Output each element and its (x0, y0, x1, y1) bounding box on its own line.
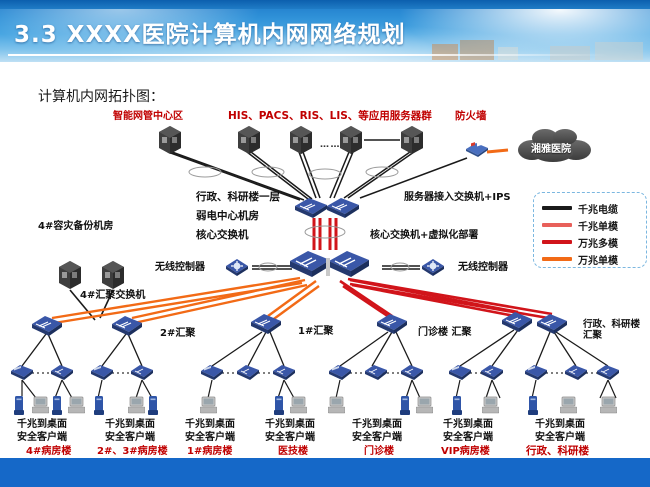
access-group-6-line1: 千兆到桌面 (535, 419, 585, 430)
desktop-pc-g4b[interactable] (416, 396, 433, 415)
access-switch-5b[interactable] (480, 364, 504, 381)
access-switch-4a[interactable] (328, 364, 352, 381)
server-app-4[interactable] (399, 124, 425, 154)
access-group-6-line2: 安全客户端 (535, 432, 585, 443)
desktop-pc-g1b[interactable] (68, 396, 85, 415)
access-group-1-building: 2#、3#病房楼 (97, 446, 168, 457)
dr-backup-server-1[interactable] (57, 259, 83, 289)
label-core-switch-virtualization: 核心交换机+虚拟化部署 (370, 230, 478, 241)
thin-client-g5[interactable] (452, 396, 462, 415)
thin-client-g4[interactable] (400, 396, 410, 415)
desktop-pc-g3[interactable] (200, 396, 217, 415)
access-group-1-line2: 安全客户端 (105, 432, 155, 443)
thin-client-g3[interactable] (274, 396, 284, 415)
aggregation-switch-outpatient[interactable] (375, 312, 409, 336)
label-aggregation-outpatient: 门诊楼 汇聚 (418, 327, 471, 338)
access-group-3-line1: 千兆到桌面 (265, 419, 315, 430)
desktop-pc-g6[interactable] (560, 396, 577, 415)
desktop-pc-g6b[interactable] (600, 396, 617, 415)
access-switch-4c[interactable] (400, 364, 424, 381)
access-group-4-building: 门诊楼 (364, 446, 394, 457)
label-wireless-controller-right: 无线控制器 (458, 262, 508, 273)
label-aggregation-2: 2#汇聚 (160, 328, 195, 339)
legend-swatch-tengig-single (542, 257, 572, 261)
access-group-3-line2: 安全客户端 (265, 432, 315, 443)
firewall-icon[interactable] (463, 141, 491, 157)
desktop-pc-g4[interactable] (328, 396, 345, 415)
wireless-controller-left-icon[interactable] (224, 256, 250, 276)
label-dr-backup-room: 4#容灾备份机房 (38, 221, 113, 232)
access-to-core-trunk (314, 218, 336, 250)
access-switch-3c[interactable] (272, 364, 296, 381)
legend-label-2: 万兆多模 (578, 235, 618, 250)
legend-swatch-tengig-multi (542, 240, 572, 244)
server-app-3[interactable] (338, 124, 364, 154)
server-app-2[interactable] (288, 124, 314, 154)
desktop-pc-g1[interactable] (32, 396, 49, 415)
legend-swatch-gigabit-cable (542, 206, 572, 210)
access-group-1-line1: 千兆到桌面 (105, 419, 155, 430)
access-group-2-line1: 千兆到桌面 (185, 419, 235, 430)
slide-canvas: 3.3 XXXX医院计算机内网网络规划 计算机内网拓扑图： (0, 0, 650, 487)
legend-box: 千兆电缆 千兆单模 万兆多模 万兆单模 (533, 192, 647, 268)
desktop-pc-g2[interactable] (128, 396, 145, 415)
access-to-endpoint-links (22, 380, 616, 398)
thin-client-g1[interactable] (14, 396, 24, 415)
dr-backup-server-2[interactable] (100, 259, 126, 289)
aggregation-switch-vip[interactable] (500, 310, 534, 334)
thin-client-g6[interactable] (528, 396, 538, 415)
access-switch-6b[interactable] (564, 364, 588, 381)
label-wireless-controller-left: 无线控制器 (155, 262, 205, 273)
access-group-5-line2: 安全客户端 (443, 432, 493, 443)
label-nms-zone: 智能网管中心区 (113, 111, 183, 122)
access-group-5-line1: 千兆到桌面 (443, 419, 493, 430)
label-core-location-line2: 弱电中心机房 (196, 211, 259, 223)
access-group-3-building: 医技楼 (278, 446, 308, 457)
cloud-label: 湘雅医院 (531, 140, 571, 155)
access-switch-3a[interactable] (200, 364, 224, 381)
access-group-4-line2: 安全客户端 (352, 432, 402, 443)
access-group-2-building: 1#病房楼 (187, 446, 232, 457)
access-switch-3b[interactable] (236, 364, 260, 381)
legend-label-1: 千兆单模 (578, 218, 618, 233)
access-switch-6c[interactable] (596, 364, 620, 381)
desktop-pc-g5[interactable] (482, 396, 499, 415)
aggregation-switch-4[interactable] (30, 314, 64, 338)
label-aggregation-1: 1#汇聚 (298, 326, 333, 337)
label-agg4-switch: 4#汇聚交换机 (80, 290, 145, 301)
core-trunk-coil (305, 226, 345, 238)
thin-client-g1b[interactable] (52, 396, 62, 415)
label-core-location-line1: 行政、科研楼一层 (196, 192, 280, 204)
thin-client-g2b[interactable] (148, 396, 158, 415)
access-group-5-building: VIP病房楼 (441, 446, 490, 457)
access-switch-4b[interactable] (364, 364, 388, 381)
access-group-2-line2: 安全客户端 (185, 432, 235, 443)
server-app-1[interactable] (236, 124, 262, 154)
label-server-access-switch: 服务器接入交换机+IPS (404, 192, 511, 203)
access-group-0-line1: 千兆到桌面 (17, 419, 67, 430)
thin-client-g2[interactable] (94, 396, 104, 415)
access-group-0-building: 4#病房楼 (26, 446, 71, 457)
legend-swatch-gigabit-single (542, 223, 572, 227)
aggregation-switch-admin[interactable] (535, 312, 569, 336)
access-switch-2b[interactable] (130, 364, 154, 381)
access-group-6-building: 行政、科研楼 (526, 446, 589, 458)
access-switch-5a[interactable] (448, 364, 472, 381)
label-aggregation-admin: 行政、科研楼 汇聚 (583, 320, 645, 341)
core-switch[interactable] (288, 248, 372, 280)
access-group-0-line2: 安全客户端 (17, 432, 67, 443)
label-firewall: 防火墙 (455, 111, 487, 123)
access-switch-6a[interactable] (524, 364, 548, 381)
wireless-controller-right-icon[interactable] (420, 256, 446, 276)
aggregation-switch-1[interactable] (249, 312, 283, 336)
desktop-pc-g3b[interactable] (290, 396, 307, 415)
access-group-4-line1: 千兆到桌面 (352, 419, 402, 430)
aggregation-switch-2[interactable] (110, 314, 144, 338)
access-switch-1a[interactable] (10, 364, 34, 381)
server-access-switch[interactable] (293, 196, 361, 220)
access-switch-2a[interactable] (90, 364, 114, 381)
access-switch-1b[interactable] (50, 364, 74, 381)
server-nms[interactable] (157, 124, 183, 154)
legend-label-0: 千兆电缆 (578, 201, 618, 216)
legend-label-3: 万兆单模 (578, 252, 618, 267)
label-core-switch: 核心交换机 (196, 230, 249, 242)
label-server-farm: HIS、PACS、RIS、LIS、等应用服务器群 (228, 111, 432, 123)
